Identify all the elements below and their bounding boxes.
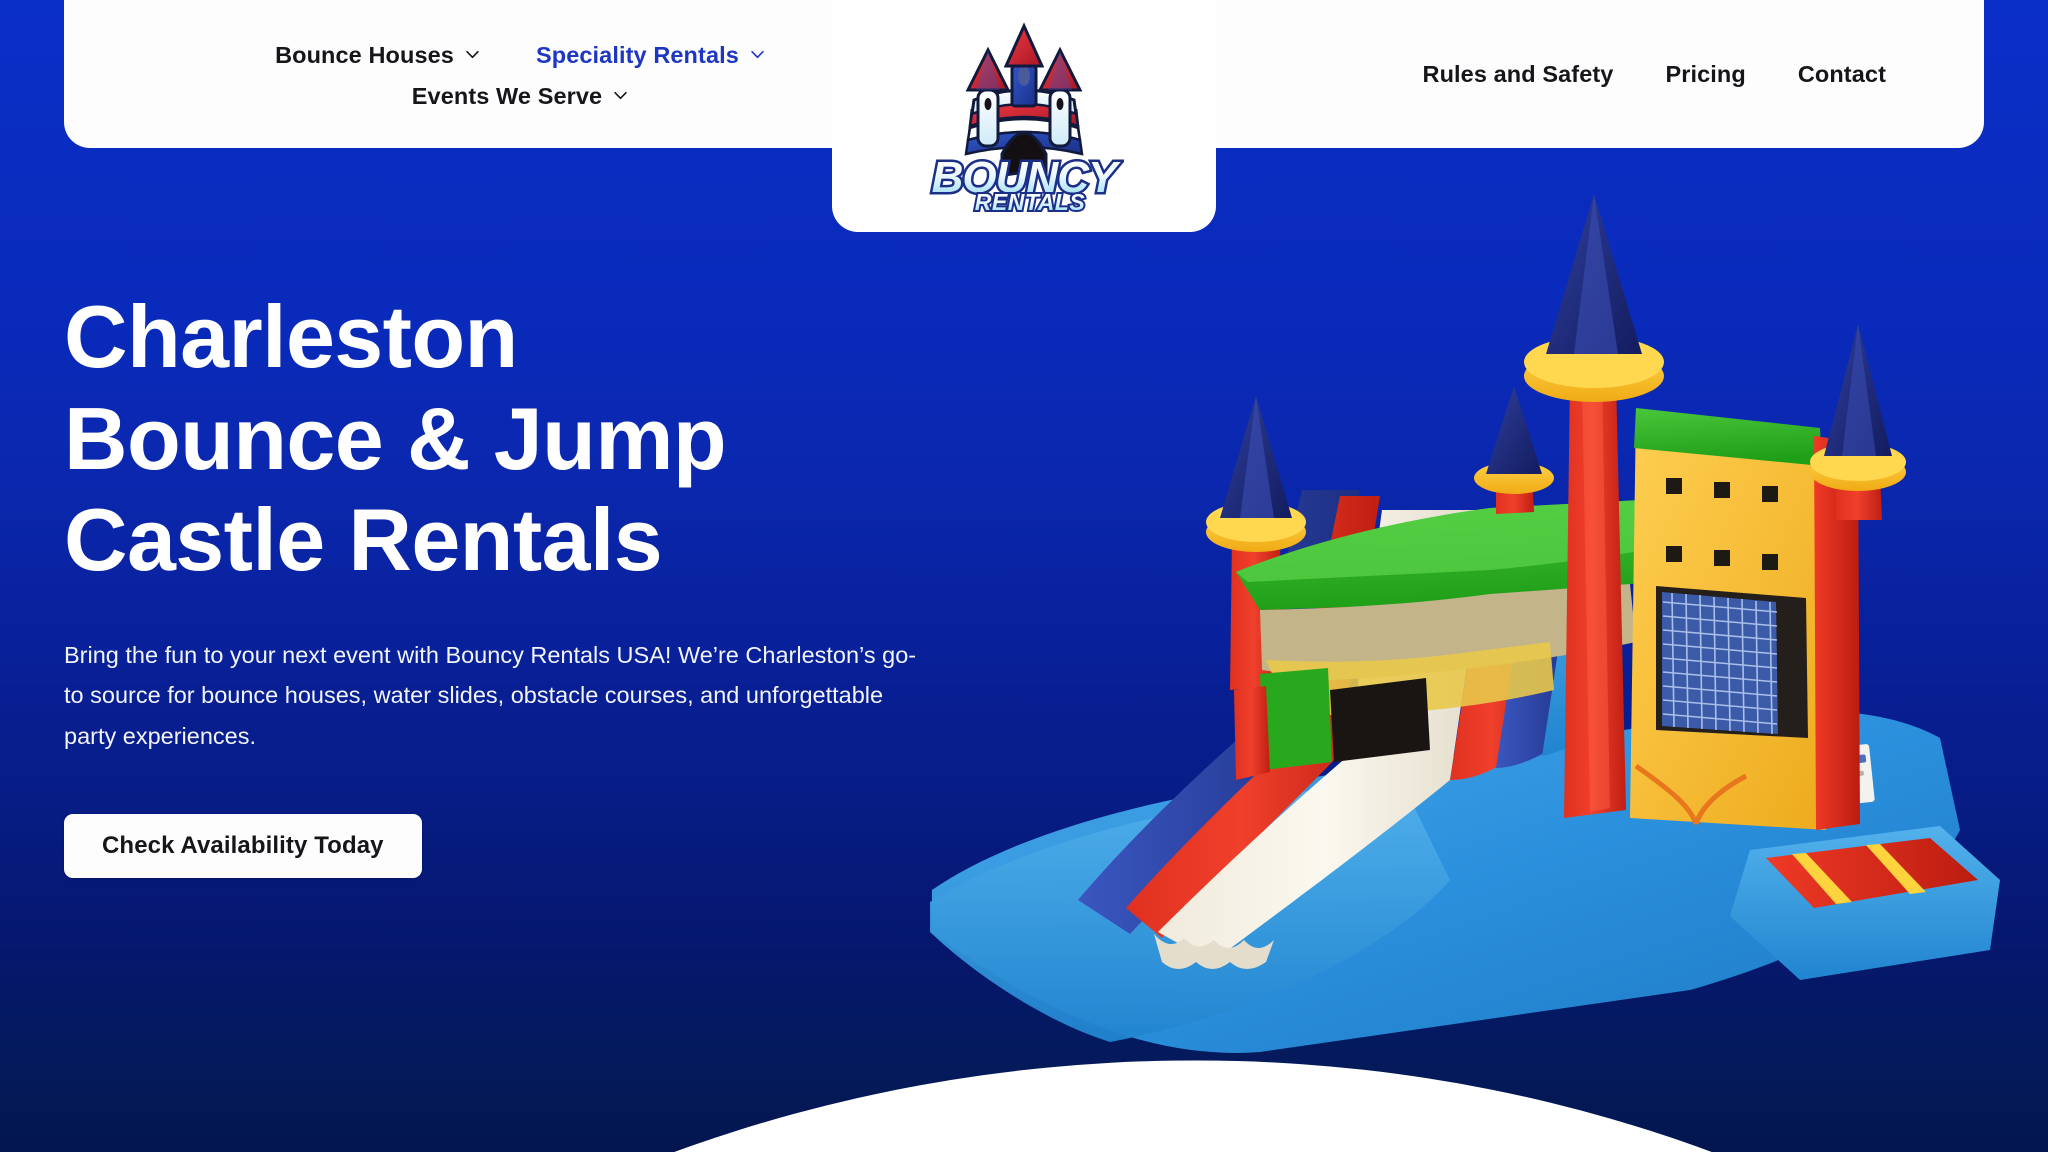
nav-item-rules-and-safety[interactable]: Rules and Safety [1423, 61, 1614, 88]
nav-item-label: Events We Serve [412, 83, 602, 110]
nav-item-label: Bounce Houses [275, 42, 454, 69]
nav-left-group: Bounce Houses Speciality Rentals Events … [160, 38, 880, 110]
nav-item-pricing[interactable]: Pricing [1665, 61, 1745, 88]
nav-item-speciality-rentals[interactable]: Speciality Rentals [536, 42, 765, 69]
nav-item-events-we-serve[interactable]: Events We Serve [412, 83, 628, 110]
nav-item-bounce-houses[interactable]: Bounce Houses [275, 42, 480, 69]
hero-content: Charleston Bounce & Jump Castle Rentals … [64, 286, 964, 878]
logo-card[interactable]: BOUNCY RENTALS [832, 0, 1216, 232]
nav-right-group: Rules and Safety Pricing Contact [1423, 61, 1931, 88]
check-availability-button[interactable]: Check Availability Today [64, 814, 422, 878]
page-title: Charleston Bounce & Jump Castle Rentals [64, 286, 964, 591]
bouncy-castle-logo-icon: BOUNCY RENTALS [924, 14, 1124, 214]
chevron-down-icon [750, 47, 765, 62]
hero-subtitle: Bring the fun to your next event with Bo… [64, 635, 924, 756]
hero-title-line-1: Charleston [64, 286, 964, 388]
chevron-down-icon [613, 88, 628, 103]
hero-title-line-2: Bounce & Jump [64, 388, 964, 490]
bounce-house-image [930, 190, 2010, 1070]
hero-section: Bounce Houses Speciality Rentals Events … [0, 0, 2048, 1152]
chevron-down-icon [465, 47, 480, 62]
logo-wordmark-secondary: RENTALS [975, 189, 1086, 214]
hero-title-line-3: Castle Rentals [64, 489, 964, 591]
nav-item-contact[interactable]: Contact [1798, 61, 1886, 88]
nav-item-label: Speciality Rentals [536, 42, 739, 69]
